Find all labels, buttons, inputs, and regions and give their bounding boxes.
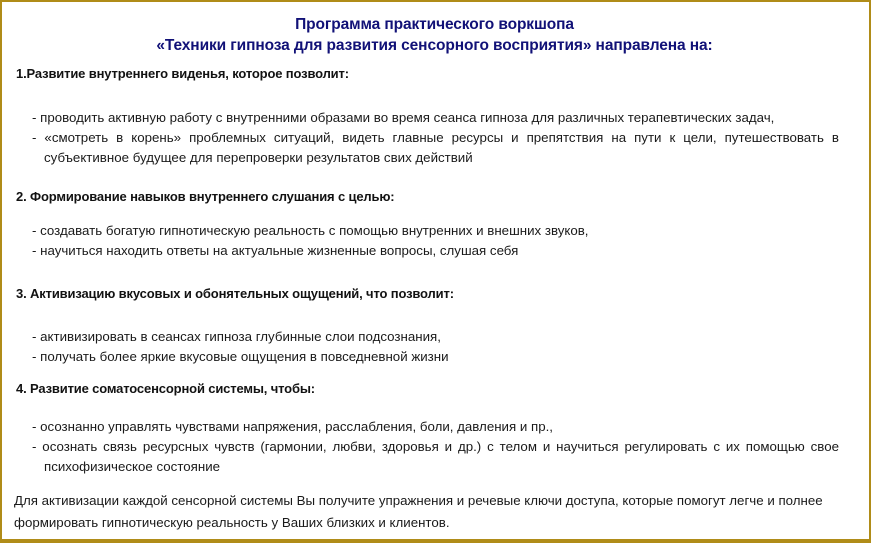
section-bullets-3: - активизировать в сеансах гипноза глуби… — [12, 327, 855, 367]
section-heading-3: 3. Активизацию вкусовых и обонятельных о… — [14, 285, 454, 302]
closing-paragraph: Для активизации каждой сенсорной системы… — [14, 490, 853, 534]
workshop-program-card: Программа практического воркшопа «Техник… — [0, 0, 871, 543]
section-bullets-1: - проводить активную работу с внутренним… — [12, 108, 855, 168]
list-item: - получать более яркие вкусовые ощущения… — [12, 347, 855, 367]
section-bullets-2: - создавать богатую гипнотическую реальн… — [12, 221, 855, 261]
card-content-area: Программа практического воркшопа «Техник… — [2, 2, 869, 539]
section-heading-1: 1.Развитие внутреннего виденья, которое … — [14, 65, 349, 82]
list-item: - осознанно управлять чувствами напряжен… — [12, 417, 855, 437]
closing-line-2: формировать гипнотическую реальность у В… — [14, 512, 853, 534]
list-item: - осознать связь ресурсных чувств (гармо… — [12, 437, 855, 477]
title-line-2: «Техники гипноза для развития сенсорного… — [18, 35, 851, 56]
section-heading-2: 2. Формирование навыков внутреннего слуш… — [14, 188, 395, 205]
page-title: Программа практического воркшопа «Техник… — [12, 14, 857, 56]
list-item: - проводить активную работу с внутренним… — [12, 108, 855, 128]
list-item: - создавать богатую гипнотическую реальн… — [12, 221, 855, 241]
section-bullets-4: - осознанно управлять чувствами напряжен… — [12, 417, 855, 477]
list-item: - активизировать в сеансах гипноза глуби… — [12, 327, 855, 347]
title-line-1: Программа практического воркшопа — [18, 14, 851, 35]
list-item: - «смотреть в корень» проблемных ситуаци… — [12, 128, 855, 168]
list-item: - научиться находить ответы на актуальны… — [12, 241, 855, 261]
section-heading-4: 4. Развитие соматосенсорной системы, что… — [14, 380, 315, 397]
closing-line-1: Для активизации каждой сенсорной системы… — [14, 490, 853, 512]
